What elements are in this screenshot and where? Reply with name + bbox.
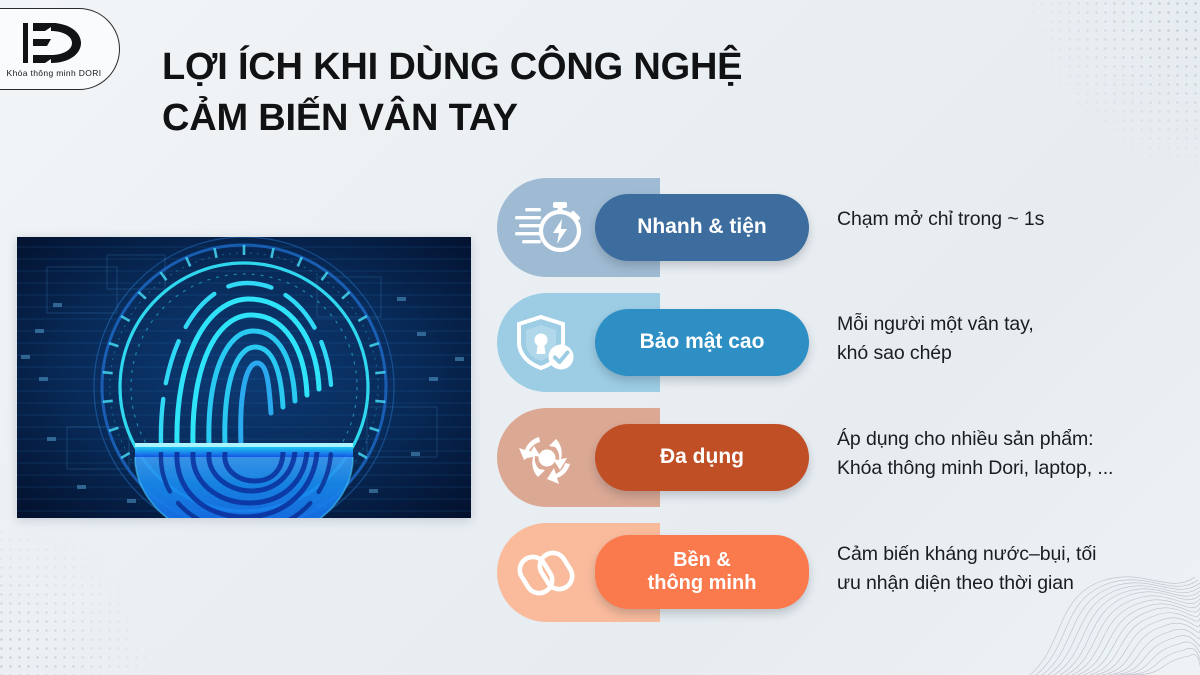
page-title: LỢI ÍCH KHI DÙNG CÔNG NGHỆ CẢM BIẾN VÂN … bbox=[162, 42, 862, 143]
benefits-list: Nhanh & tiện Chạm mở chỉ trong ~ 1s Bảo … bbox=[497, 178, 1187, 622]
benefit-label-pill[interactable]: Bảo mật cao bbox=[595, 309, 809, 376]
halftone-dots-bottom-left bbox=[0, 527, 188, 675]
benefit-description: Cảm biến kháng nước–bụi, tối ưu nhận diệ… bbox=[837, 540, 1187, 598]
brand-logo-badge: Khóa thông minh DORI bbox=[0, 8, 120, 90]
chain-link-icon bbox=[515, 542, 579, 604]
benefit-row-fast[interactable]: Nhanh & tiện Chạm mở chỉ trong ~ 1s bbox=[497, 178, 1187, 277]
benefit-label-pill[interactable]: Đa dụng bbox=[595, 424, 809, 491]
brand-caption: Khóa thông minh DORI bbox=[7, 68, 102, 78]
benefit-description: Chạm mở chỉ trong ~ 1s bbox=[837, 205, 1187, 234]
page-title-line-1: LỢI ÍCH KHI DÙNG CÔNG NGHỆ bbox=[162, 42, 862, 93]
benefit-label-pill[interactable]: Bền & thông minh bbox=[595, 535, 809, 609]
benefit-row-versatile[interactable]: Đa dụng Áp dụng cho nhiều sản phẩm: Khóa… bbox=[497, 408, 1187, 507]
benefit-label-pill[interactable]: Nhanh & tiện bbox=[595, 194, 809, 261]
benefit-row-security[interactable]: Bảo mật cao Mỗi người một vân tay, khó s… bbox=[497, 293, 1187, 392]
benefit-description: Áp dụng cho nhiều sản phẩm: Khóa thông m… bbox=[837, 425, 1187, 483]
fingerprint-illustration bbox=[17, 237, 471, 518]
benefit-description: Mỗi người một vân tay, khó sao chép bbox=[837, 310, 1187, 368]
page-title-line-2: CẢM BIẾN VÂN TAY bbox=[162, 93, 862, 144]
stopwatch-bolt-icon bbox=[515, 200, 585, 256]
dori-monogram-icon bbox=[17, 21, 91, 65]
halftone-dots-top-right bbox=[1020, 0, 1200, 180]
benefit-row-durable[interactable]: Bền & thông minh Cảm biến kháng nước–bụi… bbox=[497, 523, 1187, 622]
shield-lock-check-icon bbox=[515, 314, 579, 372]
circular-arrows-icon bbox=[515, 428, 579, 488]
fingerprint-scanner-image bbox=[17, 237, 471, 518]
